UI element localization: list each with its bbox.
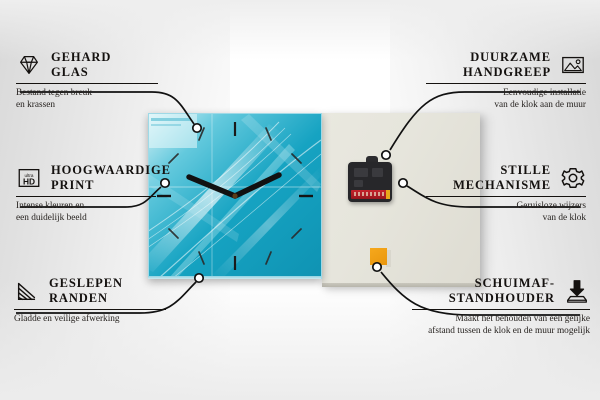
product-infographic: GEHARD GLAS Bestand tegen breuk en krass… bbox=[0, 0, 600, 400]
callout-desc-line2: en krassen bbox=[16, 100, 176, 112]
callout-stille-mechanisme: STILLE MECHANISME Geruisloze wijzers van… bbox=[408, 163, 586, 224]
callout-schuimafstandhouder: SCHUIMAF- STANDHOUDER Maakt het behouden… bbox=[395, 276, 590, 337]
mechanism-detail-1 bbox=[354, 168, 368, 177]
callout-desc-line2: afstand tussen de klok en de muur mogeli… bbox=[395, 326, 590, 338]
callout-title: GESLEPEN RANDEN bbox=[49, 276, 123, 305]
mechanism-detail-2 bbox=[372, 168, 383, 177]
callout-rule bbox=[412, 309, 590, 310]
picture-frame-icon bbox=[560, 52, 586, 78]
callout-desc-line1: Maakt het behouden van een gelijke bbox=[395, 314, 590, 326]
callout-desc-line1: Intense kleuren en bbox=[16, 201, 181, 213]
mechanism-battery-label bbox=[354, 192, 384, 196]
gear-icon bbox=[560, 165, 586, 191]
callout-title: STILLE MECHANISME bbox=[453, 163, 551, 192]
callout-desc-line1: Gladde en veilige afwerking bbox=[14, 314, 189, 326]
diamond-icon bbox=[16, 52, 42, 78]
callout-desc-line2: een duidelijk beeld bbox=[16, 213, 181, 225]
callout-title: DUURZAME HANDGREEP bbox=[463, 50, 551, 79]
callout-rule bbox=[16, 196, 156, 197]
callout-gehard-glas: GEHARD GLAS Bestand tegen breuk en krass… bbox=[16, 50, 176, 111]
callout-desc-line2: van de klok bbox=[408, 213, 586, 225]
ultra-hd-icon: ultra HD bbox=[16, 165, 42, 191]
callout-header: ultra HD HOOGWAARDIGE PRINT bbox=[16, 163, 181, 192]
callout-duurzame-handgreep: DUURZAME HANDGREEP Eenvoudige installati… bbox=[408, 50, 586, 111]
callout-rule bbox=[426, 83, 586, 84]
callout-title: GEHARD GLAS bbox=[51, 50, 111, 79]
mechanism-battery-terminal bbox=[386, 190, 390, 199]
callout-desc-line1: Geruisloze wijzers bbox=[408, 201, 586, 213]
bevelled-edges-icon bbox=[14, 278, 40, 304]
callout-geslepen-randen: GESLEPEN RANDEN Gladde en veilige afwerk… bbox=[14, 276, 189, 326]
callout-header: GEHARD GLAS bbox=[16, 50, 176, 79]
callout-rule bbox=[426, 196, 586, 197]
mechanism-detail-3 bbox=[354, 180, 363, 187]
callout-header: STILLE MECHANISME bbox=[408, 163, 586, 192]
callout-desc-line2: van de klok aan de muur bbox=[408, 100, 586, 112]
callout-desc-line1: Bestand tegen breuk bbox=[16, 88, 176, 100]
callout-header: SCHUIMAF- STANDHOUDER bbox=[395, 276, 590, 305]
callout-rule bbox=[16, 83, 158, 84]
callout-title: SCHUIMAF- STANDHOUDER bbox=[449, 276, 555, 305]
foam-spacer bbox=[370, 248, 387, 265]
callout-title: HOOGWAARDIGE PRINT bbox=[51, 163, 171, 192]
callout-rule bbox=[14, 309, 166, 310]
callout-hoogwaardige-print: ultra HD HOOGWAARDIGE PRINT Intense kleu… bbox=[16, 163, 181, 224]
callout-desc-line1: Eenvoudige installatie bbox=[408, 88, 586, 100]
callout-header: DUURZAME HANDGREEP bbox=[408, 50, 586, 79]
svg-text:HD: HD bbox=[23, 176, 35, 186]
press-down-icon bbox=[564, 278, 590, 304]
callout-header: GESLEPEN RANDEN bbox=[14, 276, 189, 305]
